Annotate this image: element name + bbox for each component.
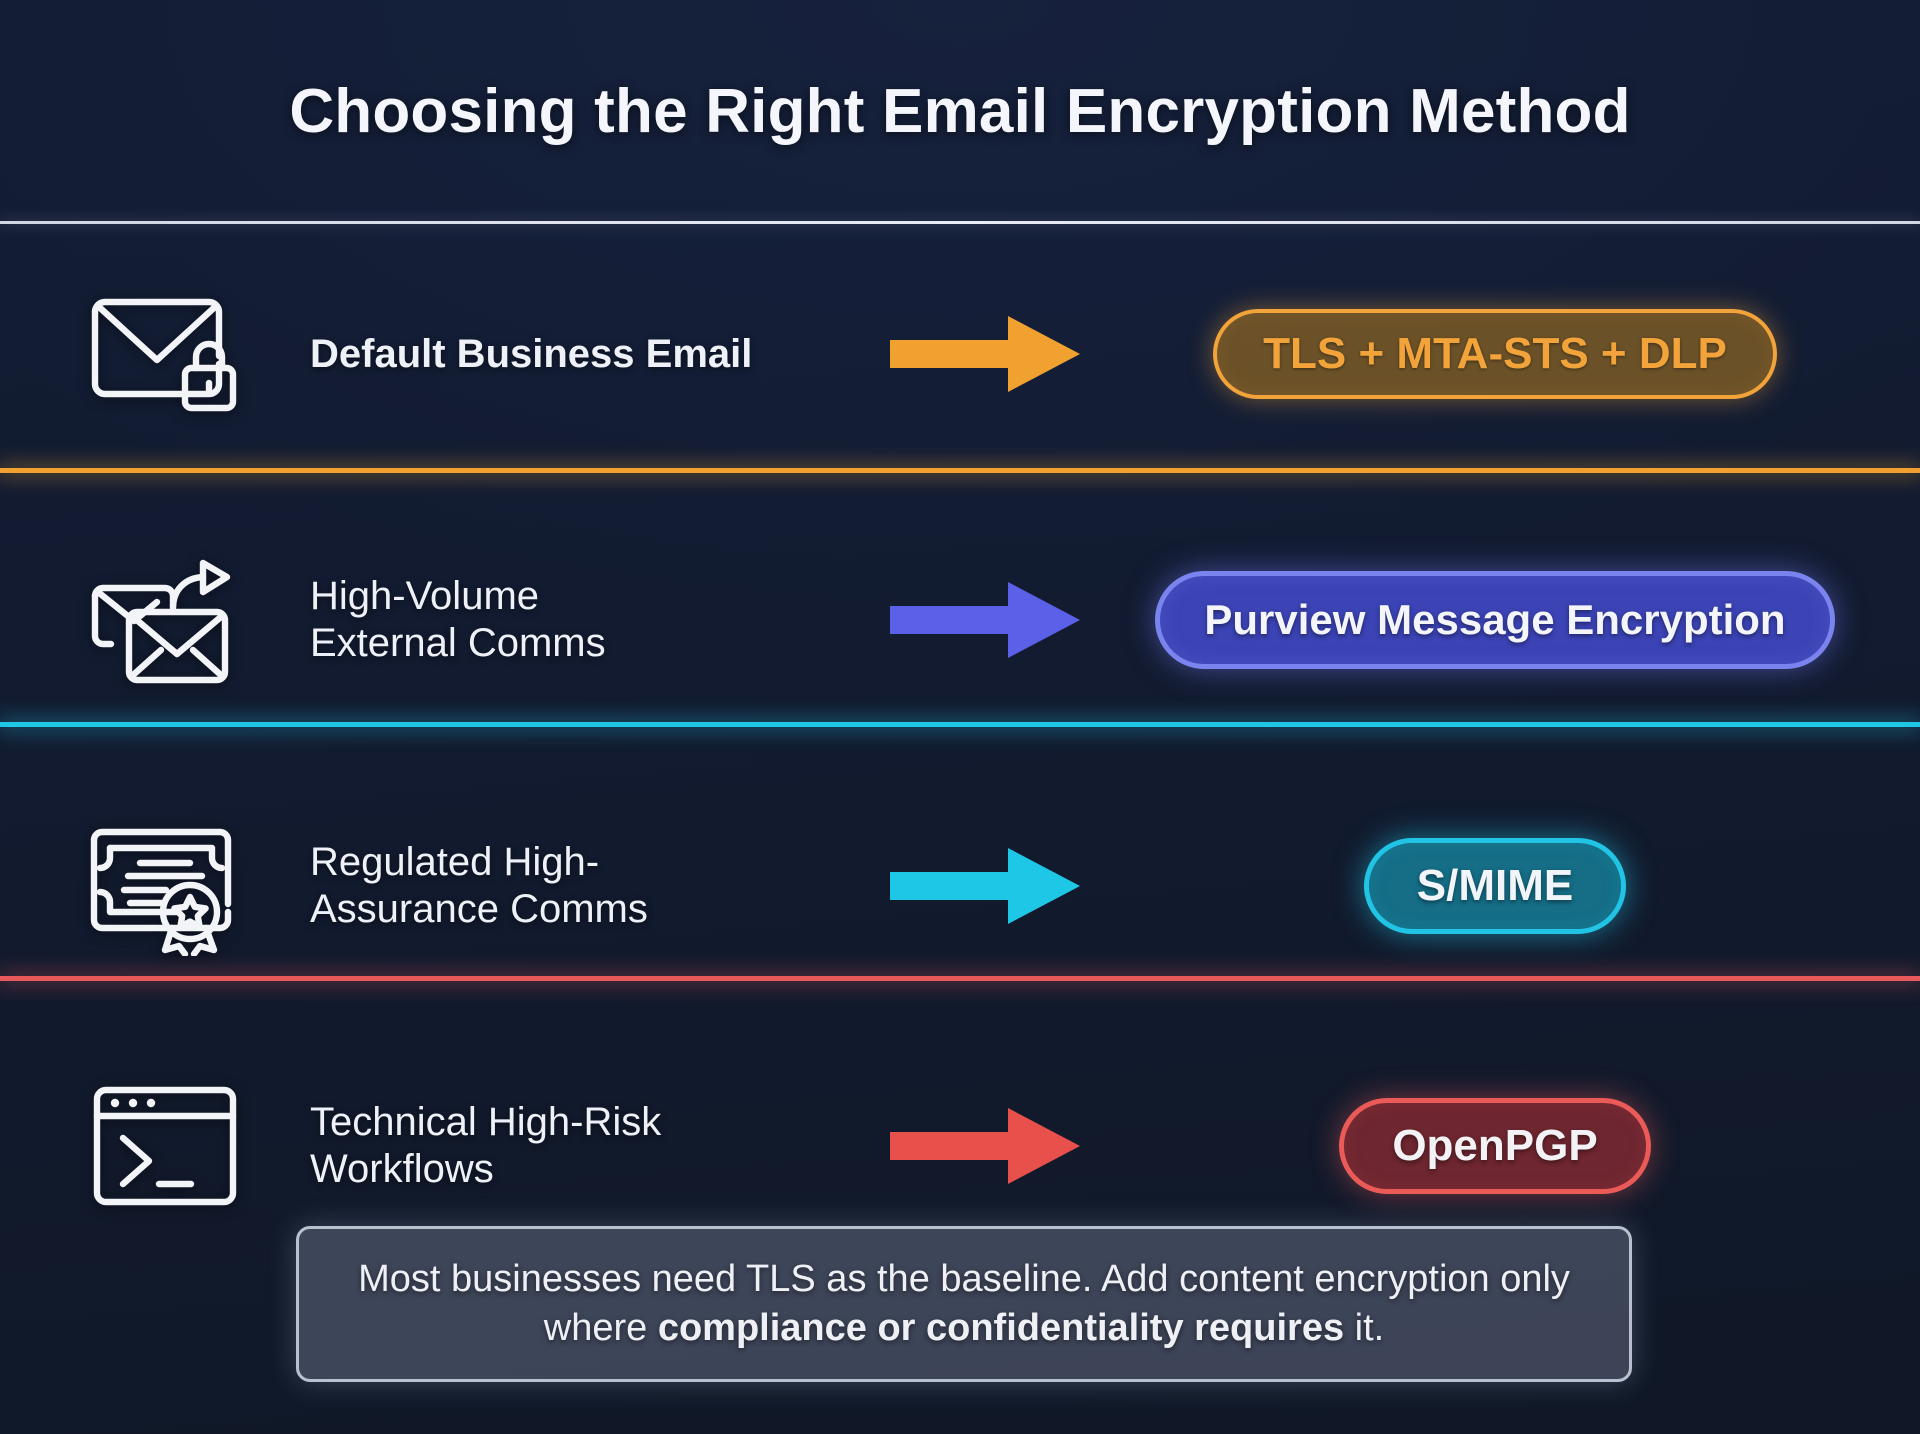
badge-cell-4: OpenPGP [1110, 1098, 1920, 1194]
row-label-2-line1: High-Volume [310, 573, 860, 620]
icon-cell-4 [0, 1078, 300, 1214]
row-label-4-line2: Workflows [310, 1146, 860, 1193]
row-label-2-line2: External Comms [310, 620, 860, 667]
arrow-right-icon [890, 578, 1080, 662]
arrow-cell-3 [860, 844, 1110, 928]
icon-cell-2 [0, 550, 300, 690]
badge-openpgp[interactable]: OpenPGP [1339, 1098, 1650, 1194]
divider-orange [0, 468, 1920, 473]
arrow-cell-2 [860, 578, 1110, 662]
row-label-3-line2: Assurance Comms [310, 886, 860, 933]
divider-red [0, 976, 1920, 981]
row-default-business-email: Default Business Email TLS + MTA-STS + D… [0, 224, 1920, 484]
infographic-root: Choosing the Right Email Encryption Meth… [0, 0, 1920, 1434]
row-high-volume-external-comms: High-Volume External Comms Purview Messa… [0, 490, 1920, 750]
badge-smime[interactable]: S/MIME [1364, 838, 1626, 934]
icon-cell-3 [0, 816, 300, 956]
row-label-4-line1: Technical High-Risk [310, 1099, 860, 1146]
footer-text-bold: compliance or confidentiality requires [658, 1307, 1344, 1349]
badge-tls-mta-sts-dlp[interactable]: TLS + MTA-STS + DLP [1213, 309, 1777, 399]
terminal-window-icon [87, 1078, 243, 1214]
divider-cyan [0, 722, 1920, 727]
row-label-3: Regulated High- Assurance Comms [300, 839, 860, 933]
row-label-1-line1: Default Business Email [310, 331, 860, 378]
title-zone: Choosing the Right Email Encryption Meth… [0, 0, 1920, 222]
row-label-3-line1: Regulated High- [310, 839, 860, 886]
badge-cell-2: Purview Message Encryption [1110, 571, 1920, 669]
certificate-seal-icon [86, 816, 244, 956]
arrow-right-icon [890, 844, 1080, 928]
page-title: Choosing the Right Email Encryption Meth… [289, 76, 1630, 147]
arrow-cell-1 [860, 312, 1110, 396]
arrow-right-icon [890, 312, 1080, 396]
footer-text-part2: it. [1344, 1307, 1384, 1349]
row-label-4: Technical High-Risk Workflows [300, 1099, 860, 1193]
envelopes-forward-icon [85, 550, 245, 690]
badge-cell-1: TLS + MTA-STS + DLP [1110, 309, 1920, 399]
footer-note-text: Most businesses need TLS as the baseline… [333, 1255, 1595, 1352]
badge-purview-message-encryption[interactable]: Purview Message Encryption [1155, 571, 1834, 669]
badge-cell-3: S/MIME [1110, 838, 1920, 934]
arrow-right-icon [890, 1104, 1080, 1188]
arrow-cell-4 [860, 1104, 1110, 1188]
row-label-2: High-Volume External Comms [300, 573, 860, 667]
envelope-lock-icon [87, 288, 243, 420]
footer-note: Most businesses need TLS as the baseline… [296, 1226, 1632, 1382]
row-label-1: Default Business Email [300, 331, 860, 378]
icon-cell-1 [0, 288, 300, 420]
